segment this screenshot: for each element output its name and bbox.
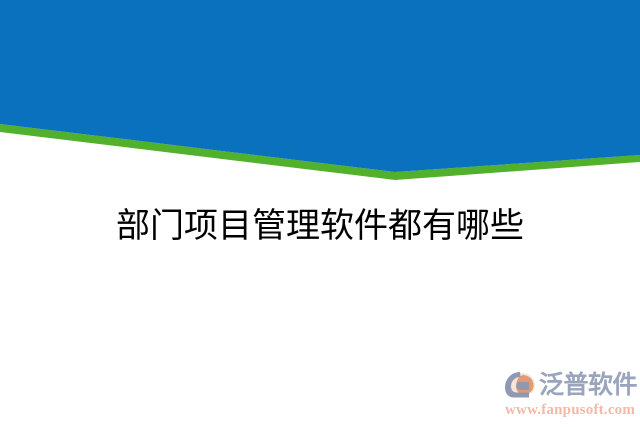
top-chevron-banner: [0, 0, 640, 185]
slide-canvas: 部门项目管理软件都有哪些 泛普软件 www.fanpusoft.com: [0, 0, 640, 427]
banner-blue-body: [0, 0, 640, 172]
fanpu-swoosh-glyph: [505, 371, 537, 398]
page-title: 部门项目管理软件都有哪些: [0, 205, 640, 249]
swoosh-gray-wedge: [517, 382, 530, 390]
banner-chevron-shape: [0, 0, 640, 185]
brand-logo[interactable]: 泛普软件 www.fanpusoft.com: [505, 368, 637, 424]
brand-logo-row: 泛普软件: [505, 368, 637, 400]
brand-name-label: 泛普软件: [539, 371, 637, 398]
brand-url-label: www.fanpusoft.com: [505, 401, 637, 419]
fanpu-swoosh-icon: [505, 371, 537, 398]
